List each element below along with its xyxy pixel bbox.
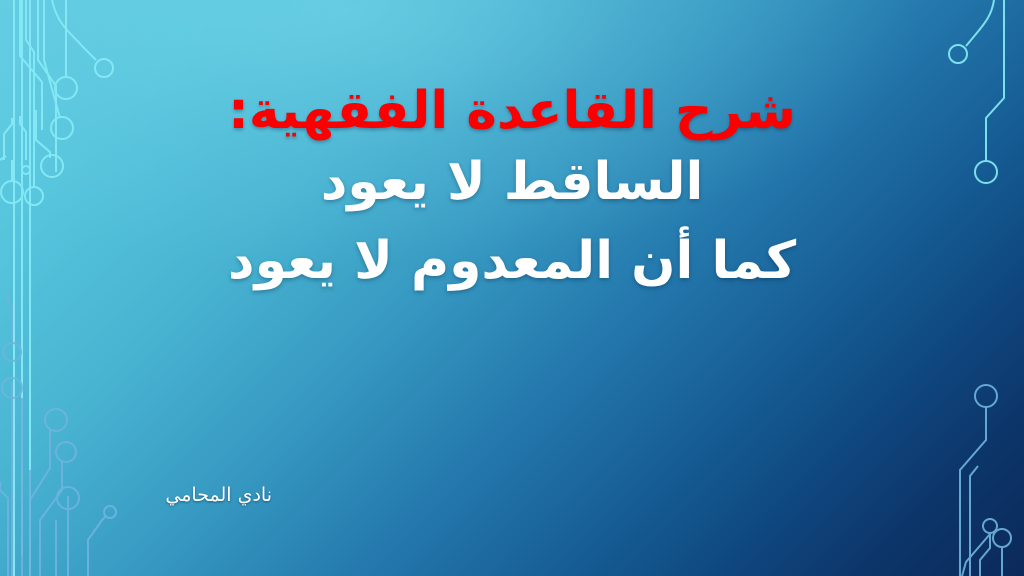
slide-title-line-3: كما أن المعدوم لا يعود — [0, 234, 1024, 289]
slide-title-line-1: شرح القاعدة الفقهية: — [0, 84, 1024, 139]
slide-text-block: شرح القاعدة الفقهية: الساقط لا يعود كما … — [0, 84, 1024, 289]
presentation-slide: شرح القاعدة الفقهية: الساقط لا يعود كما … — [0, 0, 1024, 576]
slide-title-line-2: الساقط لا يعود — [0, 155, 1024, 210]
slide-footer-attribution: نادي المحامي — [165, 484, 272, 506]
